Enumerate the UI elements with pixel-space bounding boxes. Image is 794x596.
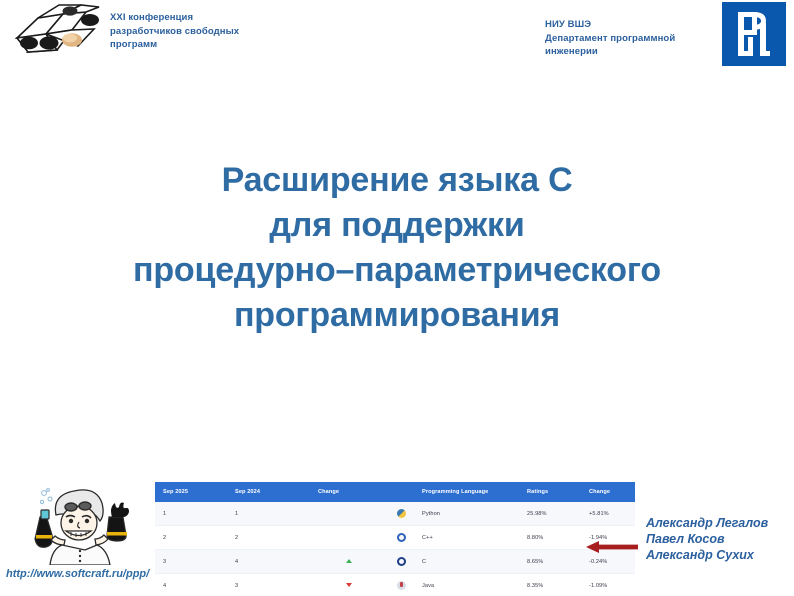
organization-title: НИУ ВШЭ Департамент программной инженери… [545, 18, 720, 59]
column-header-ratings[interactable]: Ratings [519, 482, 581, 502]
author-2: Павел Косов [646, 531, 768, 547]
table-row: 1 1 Python 25.98% +5.81% [155, 502, 635, 526]
column-header-icon-spacer [388, 482, 414, 502]
organization-name: НИУ ВШЭ [545, 18, 720, 32]
mad-scientist-mascot [14, 487, 144, 565]
cell-rank-2024: 4 [227, 550, 310, 574]
cell-rank-2024: 2 [227, 526, 310, 550]
cell-language: C [414, 550, 519, 574]
cell-rank-2025: 1 [155, 502, 227, 526]
cell-rank-2025: 4 [155, 574, 227, 596]
title-line-2: для поддержки [20, 203, 774, 248]
table-row: 4 3 Java 8.35% -1.09% [155, 574, 635, 596]
python-icon [388, 502, 414, 526]
hse-monogram-logo [722, 2, 786, 66]
department-line2: инженерии [545, 45, 720, 59]
cell-rank-2024: 1 [227, 502, 310, 526]
title-line-4: программирования [20, 293, 774, 338]
arrow-down-icon [310, 574, 388, 596]
red-left-arrow [586, 541, 638, 553]
conference-title-line2: разработчиков свободных [110, 25, 320, 39]
slide-header: XXI конференция разработчиков свободных … [0, 0, 794, 68]
cell-ratings: 8.65% [519, 550, 581, 574]
conference-tiles-logo [4, 2, 100, 60]
cell-delta: +5.81% [581, 502, 635, 526]
cell-language: Python [414, 502, 519, 526]
cell-delta: -1.09% [581, 574, 635, 596]
c-icon [388, 550, 414, 574]
slide-title: Расширение языка C для поддержки процеду… [20, 158, 774, 338]
title-line-3: процедурно–параметрического [20, 248, 774, 293]
cell-rank-2025: 2 [155, 526, 227, 550]
title-line-1: Расширение языка C [20, 158, 774, 203]
cell-rank-2025: 3 [155, 550, 227, 574]
author-1: Александр Легалов [646, 515, 768, 531]
cell-ratings: 8.35% [519, 574, 581, 596]
column-header-change[interactable]: Change [310, 482, 388, 502]
cell-change-indicator [310, 502, 388, 526]
column-header-rank-2025[interactable]: Sep 2025 [155, 482, 227, 502]
tiobe-index-table: Sep 2025 Sep 2024 Change Programming Lan… [155, 482, 635, 596]
cell-rank-2024: 3 [227, 574, 310, 596]
cell-change-indicator [310, 526, 388, 550]
table-row: 3 4 C 8.65% -0.24% [155, 550, 635, 574]
column-header-language[interactable]: Programming Language [414, 482, 519, 502]
table-header-row: Sep 2025 Sep 2024 Change Programming Lan… [155, 482, 635, 502]
presentation-slide: XXI конференция разработчиков свободных … [0, 0, 794, 596]
cplusplus-icon [388, 526, 414, 550]
cell-language: Java [414, 574, 519, 596]
project-url[interactable]: http://www.softcraft.ru/ppp/ [6, 568, 149, 580]
conference-title-line3: программ [110, 38, 320, 52]
arrow-up-icon [310, 550, 388, 574]
java-icon [388, 574, 414, 596]
cell-language: C++ [414, 526, 519, 550]
cell-ratings: 25.98% [519, 502, 581, 526]
author-3: Александр Сухих [646, 547, 768, 563]
column-header-delta[interactable]: Change [581, 482, 635, 502]
cell-delta: -0.24% [581, 550, 635, 574]
cell-ratings: 8.80% [519, 526, 581, 550]
authors-list: Александр Легалов Павел Косов Александр … [646, 515, 768, 563]
table-row: 2 2 C++ 8.80% -1.94% [155, 526, 635, 550]
column-header-rank-2024[interactable]: Sep 2024 [227, 482, 310, 502]
conference-title: XXI конференция разработчиков свободных … [110, 11, 320, 52]
department-line1: Департамент программной [545, 32, 720, 46]
conference-title-line1: XXI конференция [110, 11, 320, 25]
